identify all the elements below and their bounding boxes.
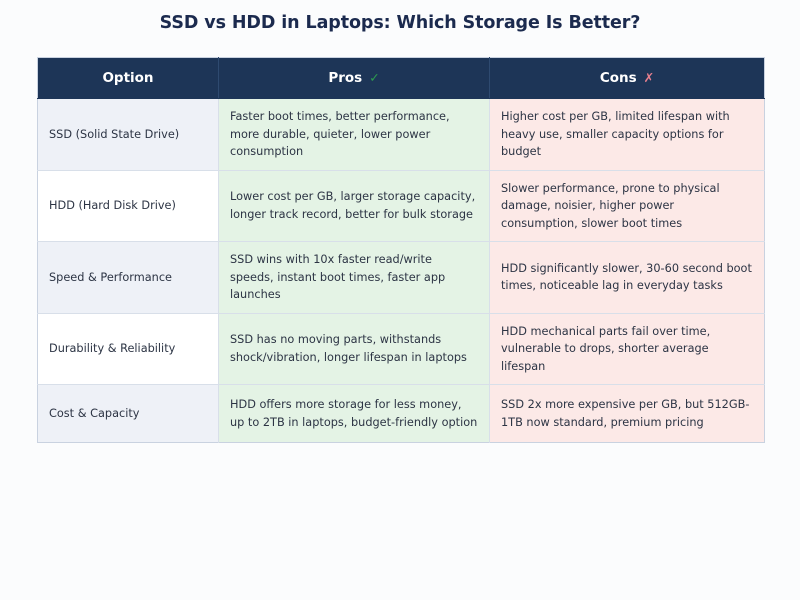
cell-pros-text: Faster boot times, better performance, m… <box>230 108 478 161</box>
table-row: Durability & Reliability SSD has no movi… <box>38 313 765 385</box>
cell-option-text: Durability & Reliability <box>49 340 207 358</box>
cell-cons-text: SSD 2x more expensive per GB, but 512GB-… <box>501 396 753 431</box>
check-icon: ✓ <box>369 72 379 85</box>
cell-option-text: Cost & Capacity <box>49 405 207 423</box>
cross-icon: ✗ <box>644 72 654 85</box>
column-header-option-label: Option <box>102 70 153 86</box>
cell-cons: SSD 2x more expensive per GB, but 512GB-… <box>490 385 765 443</box>
cell-pros-text: SSD wins with 10x faster read/write spee… <box>230 251 478 304</box>
cell-cons: Slower performance, prone to physical da… <box>490 170 765 242</box>
comparison-table: Option Pros ✓ Cons ✗ <box>37 57 765 443</box>
cell-option: SSD (Solid State Drive) <box>38 99 219 171</box>
cell-cons: HDD significantly slower, 30-60 second b… <box>490 242 765 314</box>
cell-pros-text: HDD offers more storage for less money, … <box>230 396 478 431</box>
cell-option-text: SSD (Solid State Drive) <box>49 126 207 144</box>
comparison-table-container: Option Pros ✓ Cons ✗ <box>37 57 764 443</box>
cell-pros: SSD has no moving parts, withstands shoc… <box>219 313 490 385</box>
cell-option-text: HDD (Hard Disk Drive) <box>49 197 207 215</box>
table-body: SSD (Solid State Drive) Faster boot time… <box>38 99 765 443</box>
cell-cons-text: HDD mechanical parts fail over time, vul… <box>501 323 753 376</box>
table-row: Speed & Performance SSD wins with 10x fa… <box>38 242 765 314</box>
column-header-pros-label: Pros <box>328 70 362 86</box>
table-row: Cost & Capacity HDD offers more storage … <box>38 385 765 443</box>
cell-cons: HDD mechanical parts fail over time, vul… <box>490 313 765 385</box>
table-header: Option Pros ✓ Cons ✗ <box>38 58 765 99</box>
page-root: SSD vs HDD in Laptops: Which Storage Is … <box>0 0 800 600</box>
cell-pros: Lower cost per GB, larger storage capaci… <box>219 170 490 242</box>
cell-pros: Faster boot times, better performance, m… <box>219 99 490 171</box>
cell-cons-text: Higher cost per GB, limited lifespan wit… <box>501 108 753 161</box>
cell-cons-text: Slower performance, prone to physical da… <box>501 180 753 233</box>
cell-pros: HDD offers more storage for less money, … <box>219 385 490 443</box>
column-header-cons: Cons ✗ <box>490 58 765 99</box>
cell-option: Speed & Performance <box>38 242 219 314</box>
cell-pros-text: Lower cost per GB, larger storage capaci… <box>230 188 478 223</box>
table-header-row: Option Pros ✓ Cons ✗ <box>38 58 765 99</box>
cell-option-text: Speed & Performance <box>49 269 207 287</box>
column-header-option: Option <box>38 58 219 99</box>
cell-cons: Higher cost per GB, limited lifespan wit… <box>490 99 765 171</box>
cell-pros-text: SSD has no moving parts, withstands shoc… <box>230 331 478 366</box>
cell-option: Durability & Reliability <box>38 313 219 385</box>
table-row: SSD (Solid State Drive) Faster boot time… <box>38 99 765 171</box>
column-header-pros: Pros ✓ <box>219 58 490 99</box>
column-header-cons-label: Cons <box>600 70 637 86</box>
cell-option: HDD (Hard Disk Drive) <box>38 170 219 242</box>
table-row: HDD (Hard Disk Drive) Lower cost per GB,… <box>38 170 765 242</box>
page-title: SSD vs HDD in Laptops: Which Storage Is … <box>0 0 800 33</box>
cell-cons-text: HDD significantly slower, 30-60 second b… <box>501 260 753 295</box>
cell-pros: SSD wins with 10x faster read/write spee… <box>219 242 490 314</box>
cell-option: Cost & Capacity <box>38 385 219 443</box>
